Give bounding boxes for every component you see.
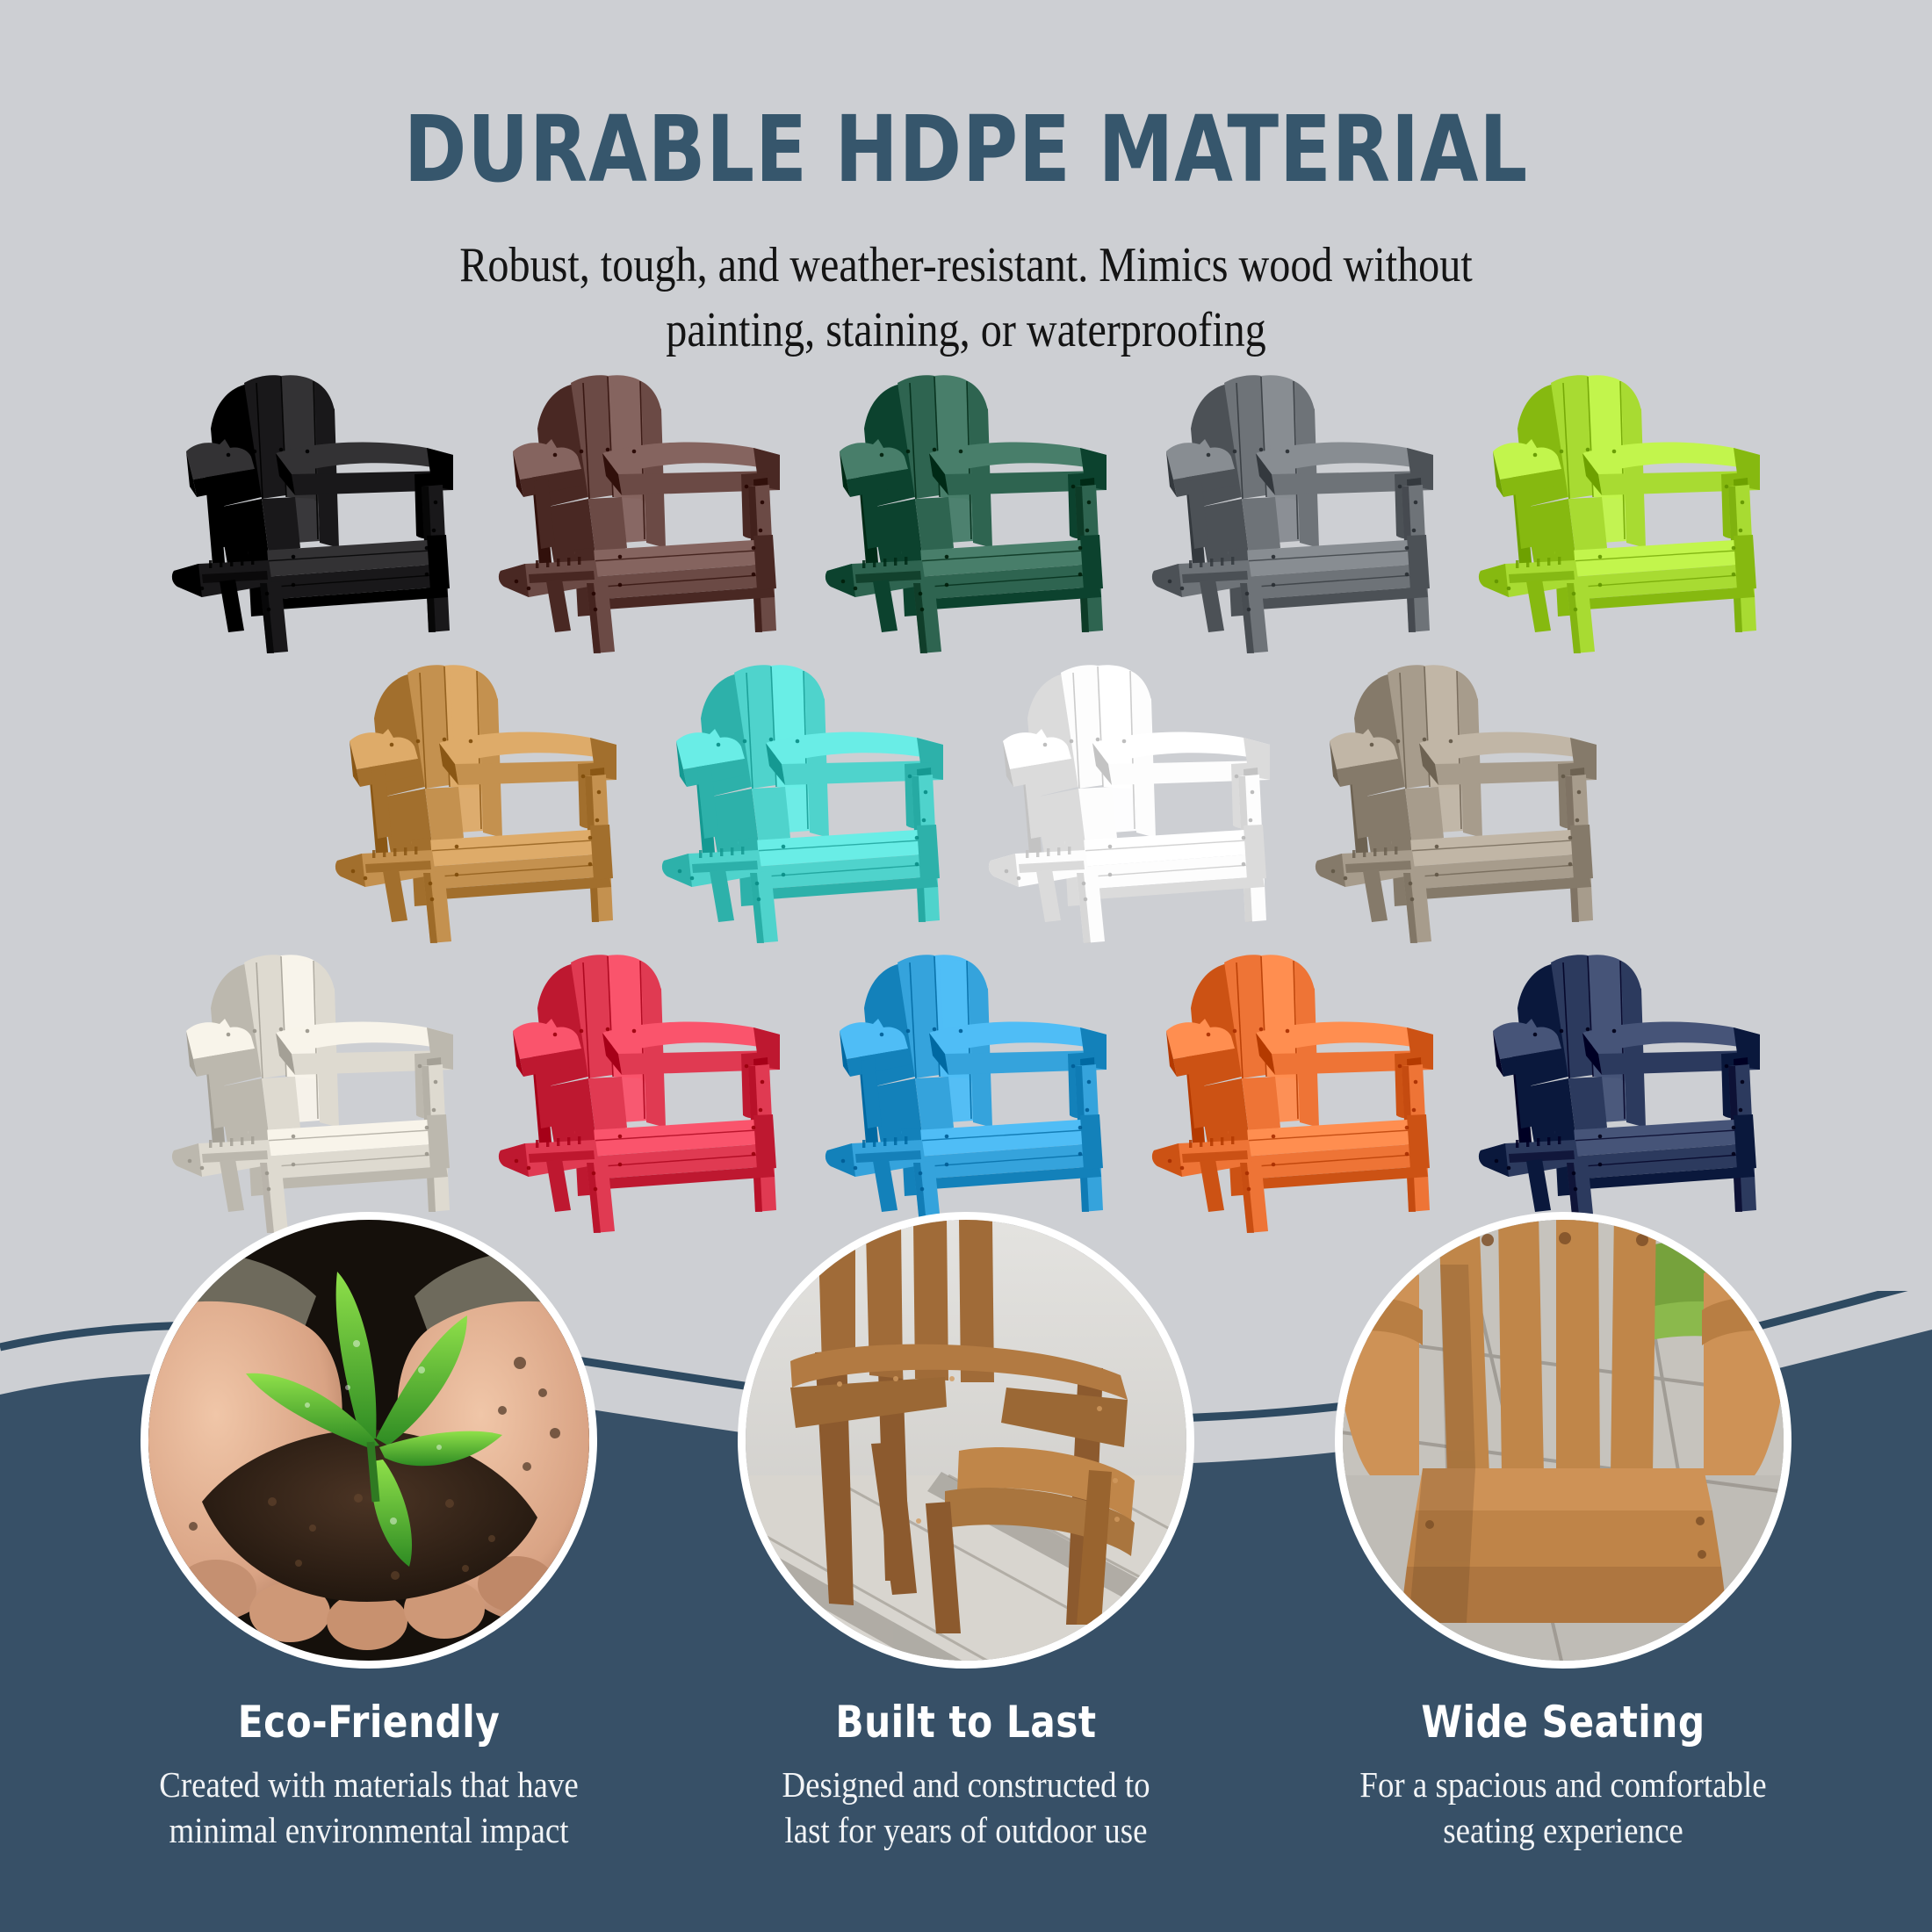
adirondack-chair-blue xyxy=(817,947,1143,1236)
feature-description: For a spacious and comfortable seating e… xyxy=(1342,1762,1784,1854)
adirondack-chair-turquoise xyxy=(653,657,980,947)
chair-color-grid xyxy=(0,367,1932,1254)
feature-title: Eco-Friendly xyxy=(138,1697,600,1748)
page-title: DURABLE HDPE MATERIAL xyxy=(77,104,1855,195)
feature-description: Designed and constructed to last for yea… xyxy=(745,1762,1187,1854)
adirondack-chair-white xyxy=(980,657,1307,947)
adirondack-chair-weathered-wood xyxy=(1307,657,1633,947)
feature-desc-line-1: For a spacious and comfortable xyxy=(1342,1762,1784,1807)
chair-swatch-red[interactable] xyxy=(490,947,817,1236)
adirondack-chair-teak xyxy=(327,657,653,947)
feature-title: Wide Seating xyxy=(1332,1697,1794,1748)
infographic-canvas: DURABLE HDPE MATERIAL Robust, tough, and… xyxy=(0,0,1932,1932)
chair-swatch-black[interactable] xyxy=(163,367,490,657)
feature-desc-line-2: minimal environmental impact xyxy=(148,1807,590,1853)
chair-swatch-turquoise[interactable] xyxy=(653,657,980,947)
chair-swatch-white[interactable] xyxy=(980,657,1307,947)
wide-seat-closeup-icon xyxy=(1335,1212,1791,1669)
adirondack-chair-gray xyxy=(1143,367,1470,657)
feature-desc-line-1: Created with materials that have xyxy=(148,1762,590,1807)
feature-title: Built to Last xyxy=(735,1697,1197,1748)
feature-built-to-last: Built to Last Designed and constructed t… xyxy=(720,1212,1212,1854)
chair-row-3 xyxy=(0,947,1932,1236)
subtitle-line-2: painting, staining, or waterproofing xyxy=(135,299,1797,364)
chair-swatch-weathered-wood[interactable] xyxy=(1307,657,1633,947)
chair-swatch-navy-blue[interactable] xyxy=(1470,947,1797,1236)
adirondack-chair-orange xyxy=(1143,947,1470,1236)
chair-swatch-orange[interactable] xyxy=(1143,947,1470,1236)
feature-desc-line-1: Designed and constructed to xyxy=(745,1762,1187,1807)
adirondack-chair-ivory xyxy=(163,947,490,1236)
chair-swatch-dark-green[interactable] xyxy=(817,367,1143,657)
chair-swatch-gray[interactable] xyxy=(1143,367,1470,657)
chair-row-1 xyxy=(0,367,1932,657)
eco-friendly-image-circle xyxy=(141,1212,597,1669)
feature-desc-line-2: seating experience xyxy=(1342,1807,1784,1853)
built-to-last-image-circle xyxy=(738,1212,1194,1669)
page-subtitle: Robust, tough, and weather-resistant. Mi… xyxy=(135,234,1797,364)
feature-description: Created with materials that have minimal… xyxy=(148,1762,590,1854)
feature-desc-line-2: last for years of outdoor use xyxy=(745,1807,1187,1853)
chair-swatch-ivory[interactable] xyxy=(163,947,490,1236)
adirondack-chair-brown xyxy=(490,367,817,657)
adirondack-chair-lime-green xyxy=(1470,367,1797,657)
feature-section: Eco-Friendly Created with materials that… xyxy=(0,1212,1932,1932)
adirondack-chair-dark-green xyxy=(817,367,1143,657)
chair-swatch-lime-green[interactable] xyxy=(1470,367,1797,657)
adirondack-chair-red xyxy=(490,947,817,1236)
adirondack-chair-navy-blue xyxy=(1470,947,1797,1236)
wide-seating-image-circle xyxy=(1335,1212,1791,1669)
chair-swatch-blue[interactable] xyxy=(817,947,1143,1236)
subtitle-line-1: Robust, tough, and weather-resistant. Mi… xyxy=(135,234,1797,299)
feature-wide-seating: Wide Seating For a spacious and comforta… xyxy=(1317,1212,1809,1854)
chair-swatch-teak[interactable] xyxy=(327,657,653,947)
patio-chair-photo-icon xyxy=(738,1212,1194,1669)
chair-row-2 xyxy=(0,657,1932,947)
hands-holding-seedling-icon xyxy=(141,1212,597,1669)
feature-eco-friendly: Eco-Friendly Created with materials that… xyxy=(123,1212,615,1854)
header: DURABLE HDPE MATERIAL Robust, tough, and… xyxy=(0,104,1932,364)
chair-swatch-brown[interactable] xyxy=(490,367,817,657)
adirondack-chair-black xyxy=(163,367,490,657)
